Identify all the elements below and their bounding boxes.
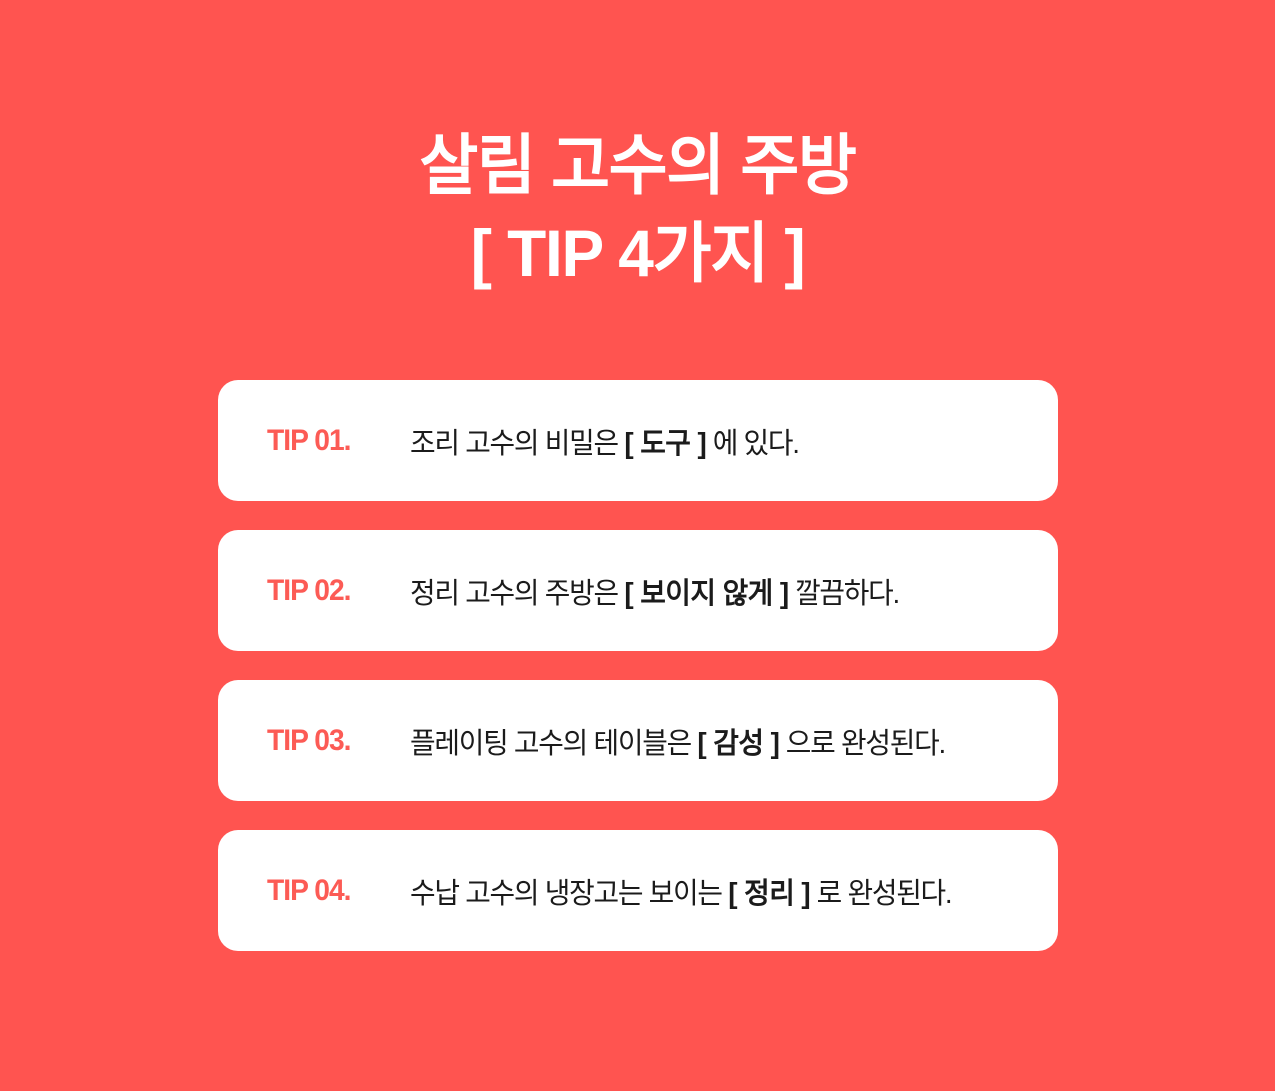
- poster-canvas: 살림 고수의 주방 [ TIP 4가지 ] TIP 01. 조리 고수의 비밀은…: [0, 0, 1275, 1091]
- tip-text-01-pre: 조리 고수의 비밀은: [410, 428, 624, 460]
- tip-text-04: 수납 고수의 냉장고는 보이는 [ 정리 ] 로 완성된다.: [410, 870, 1001, 912]
- tip-label-01: TIP 01.: [267, 424, 401, 458]
- tip-text-01-emphasis: [ 도구 ]: [624, 428, 706, 460]
- tip-text-04-post: 로 완성된다.: [810, 878, 951, 910]
- tip-label-04: TIP 04.: [267, 874, 401, 908]
- tip-label-03: TIP 03.: [267, 724, 401, 758]
- tip-card-03[interactable]: TIP 03. 플레이팅 고수의 테이블은 [ 감성 ] 으로 완성된다.: [218, 680, 1058, 801]
- tip-text-02-pre: 정리 고수의 주방은: [410, 578, 624, 610]
- tip-card-04[interactable]: TIP 04. 수납 고수의 냉장고는 보이는 [ 정리 ] 로 완성된다.: [218, 830, 1058, 951]
- tip-text-03-post: 으로 완성된다.: [779, 728, 945, 760]
- tip-text-04-pre: 수납 고수의 냉장고는 보이는: [410, 878, 728, 910]
- tip-card-list: TIP 01. 조리 고수의 비밀은 [ 도구 ] 에 있다. TIP 02. …: [218, 380, 1058, 951]
- tip-text-02-post: 깔끔하다.: [789, 578, 899, 610]
- tip-text-03-pre: 플레이팅 고수의 테이블은: [410, 728, 697, 760]
- tip-text-04-emphasis: [ 정리 ]: [728, 878, 810, 910]
- tip-label-02: TIP 02.: [267, 574, 401, 608]
- tip-card-02[interactable]: TIP 02. 정리 고수의 주방은 [ 보이지 않게 ] 깔끔하다.: [218, 530, 1058, 651]
- tip-text-02: 정리 고수의 주방은 [ 보이지 않게 ] 깔끔하다.: [410, 570, 1001, 612]
- page-title: 살림 고수의 주방 [ TIP 4가지 ]: [0, 132, 1275, 286]
- tip-text-03: 플레이팅 고수의 테이블은 [ 감성 ] 으로 완성된다.: [410, 720, 1001, 762]
- title-line-primary: 살림 고수의 주방: [19, 132, 1256, 198]
- tip-card-01[interactable]: TIP 01. 조리 고수의 비밀은 [ 도구 ] 에 있다.: [218, 380, 1058, 501]
- tip-text-02-emphasis: [ 보이지 않게 ]: [624, 578, 788, 610]
- tip-text-01-post: 에 있다.: [706, 428, 799, 460]
- tip-text-03-emphasis: [ 감성 ]: [697, 728, 779, 760]
- title-line-secondary: [ TIP 4가지 ]: [19, 220, 1256, 286]
- tip-text-01: 조리 고수의 비밀은 [ 도구 ] 에 있다.: [410, 420, 1001, 462]
